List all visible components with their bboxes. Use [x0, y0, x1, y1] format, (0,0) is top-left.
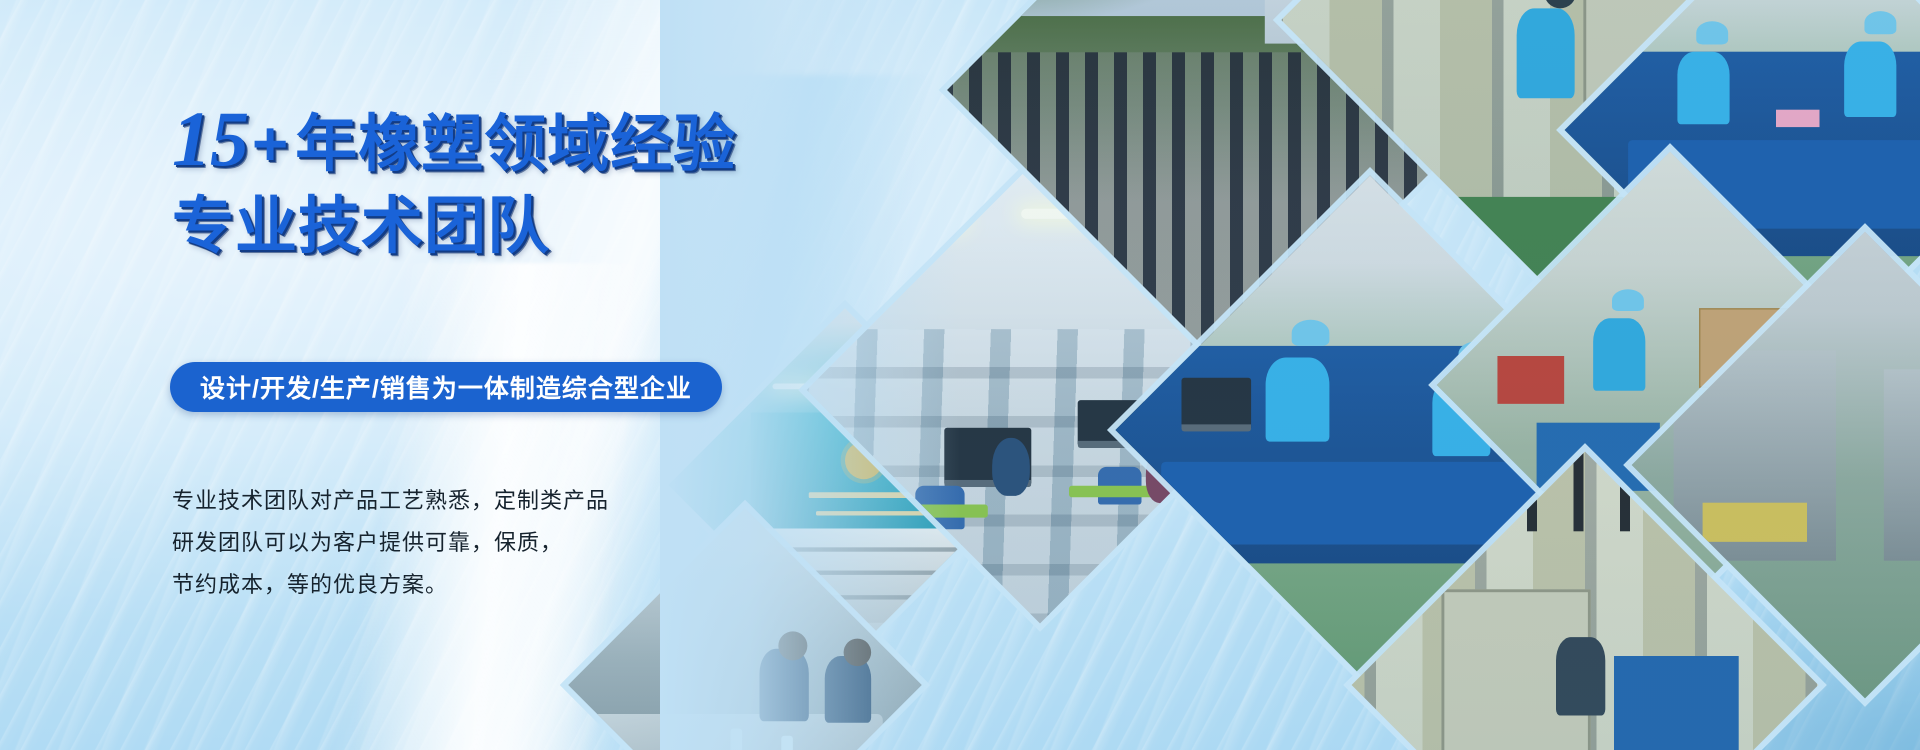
headline: 15+年橡塑领域经验 专业技术团队 — [172, 100, 932, 258]
headline-line-2: 专业技术团队 — [172, 196, 932, 258]
tagline-badge: 设计/开发/生产/销售为一体制造综合型企业 — [170, 362, 722, 412]
tagline-badge-label: 设计/开发/生产/销售为一体制造综合型企业 — [200, 369, 692, 405]
years-number: 15 — [172, 95, 248, 182]
description-line-3: 节约成本，等的优良方案。 — [172, 564, 732, 606]
description-line-2: 研发团队可以为客户提供可靠，保质， — [172, 522, 732, 564]
headline-line-1-rest: 年橡塑领域经验 — [295, 110, 736, 179]
description-paragraph: 专业技术团队对产品工艺熟悉，定制类产品 研发团队可以为客户提供可靠，保质， 节约… — [172, 480, 732, 606]
years-plus-sign: + — [252, 110, 289, 179]
headline-line-1: 15+年橡塑领域经验 — [172, 100, 932, 178]
description-line-1: 专业技术团队对产品工艺熟悉，定制类产品 — [172, 480, 732, 522]
hero-text-block: 15+年橡塑领域经验 专业技术团队 设计/开发/生产/销售为一体制造综合型企业 … — [0, 0, 760, 750]
company-hero-banner: 15+年橡塑领域经验 专业技术团队 设计/开发/生产/销售为一体制造综合型企业 … — [0, 0, 1920, 750]
